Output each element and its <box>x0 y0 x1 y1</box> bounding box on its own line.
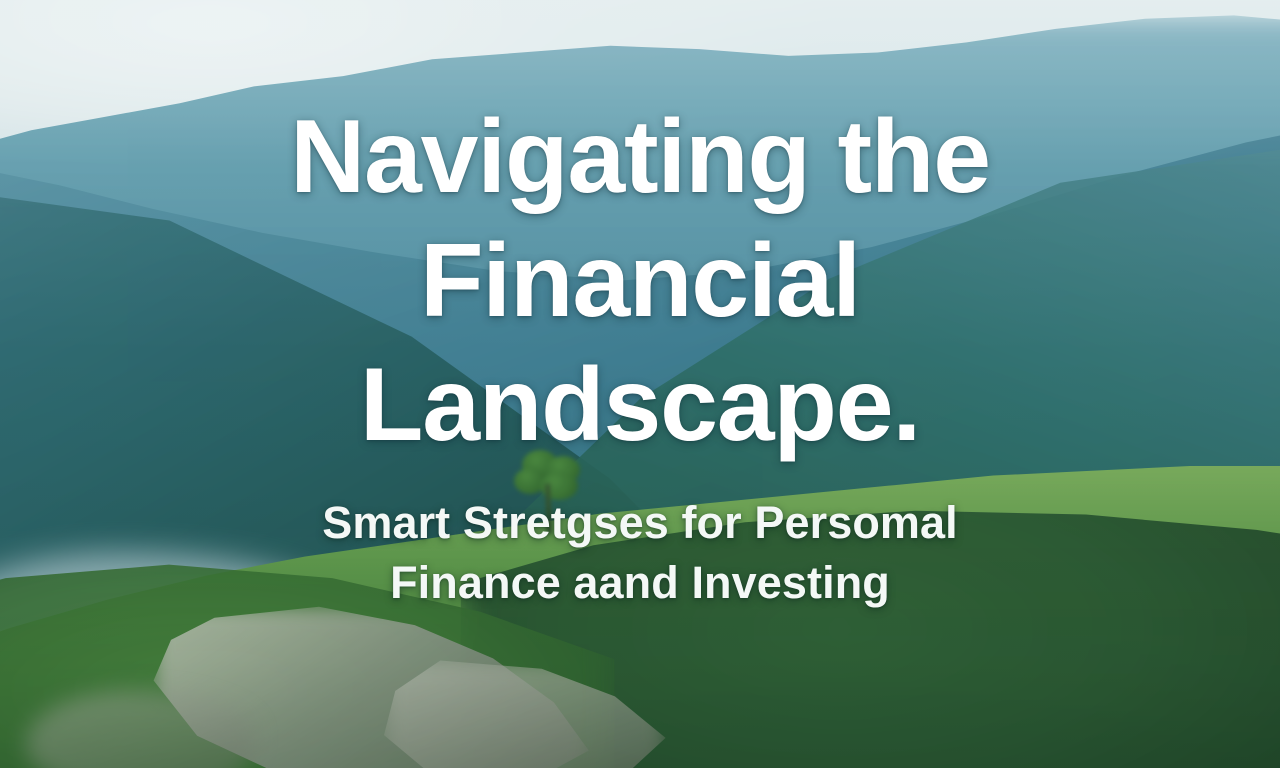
page-title: Navigating the Financial Landscape. <box>290 96 990 467</box>
poster-canvas: Navigating the Financial Landscape. Smar… <box>0 0 1280 768</box>
subtitle-line-2: Finance aand Investing <box>322 553 958 612</box>
page-subtitle: Smart Stretgses for Persomal Finance aan… <box>322 493 958 612</box>
subtitle-line-1: Smart Stretgses for Persomal <box>322 493 958 552</box>
headline-line-1: Navigating the <box>290 96 990 220</box>
text-overlay: Navigating the Financial Landscape. Smar… <box>0 0 1280 768</box>
headline-line-2: Financial <box>290 220 990 344</box>
headline-line-3: Landscape. <box>290 344 990 468</box>
